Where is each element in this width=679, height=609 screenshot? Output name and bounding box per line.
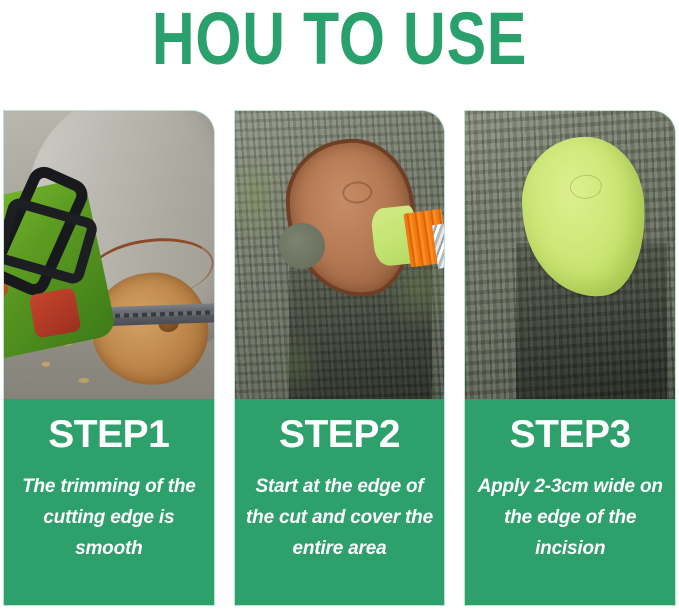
step-2-photo-scene [235,111,445,399]
steps-row: STEP1 The trimming of the cutting edge i… [3,110,676,606]
step-2-description: Start at the edge of the cut and cover t… [245,471,435,564]
wound-notch [279,223,325,269]
step-3-heading: STEP3 [475,413,665,457]
step-3-photo-scene [465,111,675,399]
step-2-photo [235,111,445,399]
step-2-heading: STEP2 [245,413,435,457]
step-card-3: STEP3 Apply 2-3cm wide on the edge of th… [464,110,676,606]
step-1-photo [4,111,214,399]
step-2-panel: STEP2 Start at the edge of the cut and c… [235,399,445,605]
step-1-description: The trimming of the cutting edge is smoo… [14,471,204,564]
page-title: HOU TO USE [68,2,611,76]
chainsaw-red-part [29,287,82,338]
how-to-use-infographic: HOU TO USE [0,0,679,609]
step-card-1: STEP1 The trimming of the cutting edge i… [3,110,215,606]
step-1-heading: STEP1 [14,413,204,457]
step-3-photo [465,111,675,399]
step-1-photo-scene [4,111,214,399]
step-1-panel: STEP1 The trimming of the cutting edge i… [4,399,214,605]
step-3-description: Apply 2-3cm wide on the edge of the inci… [475,471,665,564]
step-card-2: STEP2 Start at the edge of the cut and c… [234,110,446,606]
step-3-panel: STEP3 Apply 2-3cm wide on the edge of th… [465,399,675,605]
